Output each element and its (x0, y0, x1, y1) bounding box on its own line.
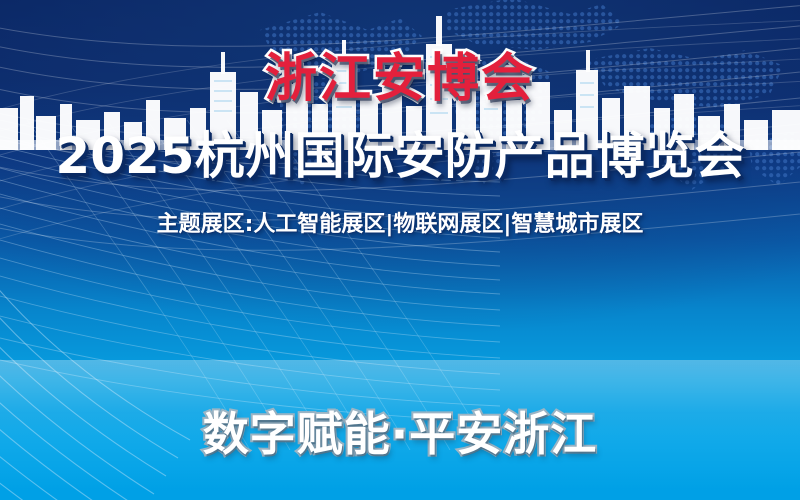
exhibition-short-name: 浙江安博会 (265, 52, 535, 107)
exhibition-banner: 浙江安博会 2025杭州国际安防产品博览会 主题展区:人工智能展区|物联网展区|… (0, 0, 800, 500)
page-title: 2025杭州国际安防产品博览会 (55, 129, 744, 184)
banner-slogan: 数字赋能·平安浙江 (0, 398, 800, 464)
theme-zones-line: 主题展区:人工智能展区|物联网展区|智慧城市展区 (157, 206, 644, 238)
